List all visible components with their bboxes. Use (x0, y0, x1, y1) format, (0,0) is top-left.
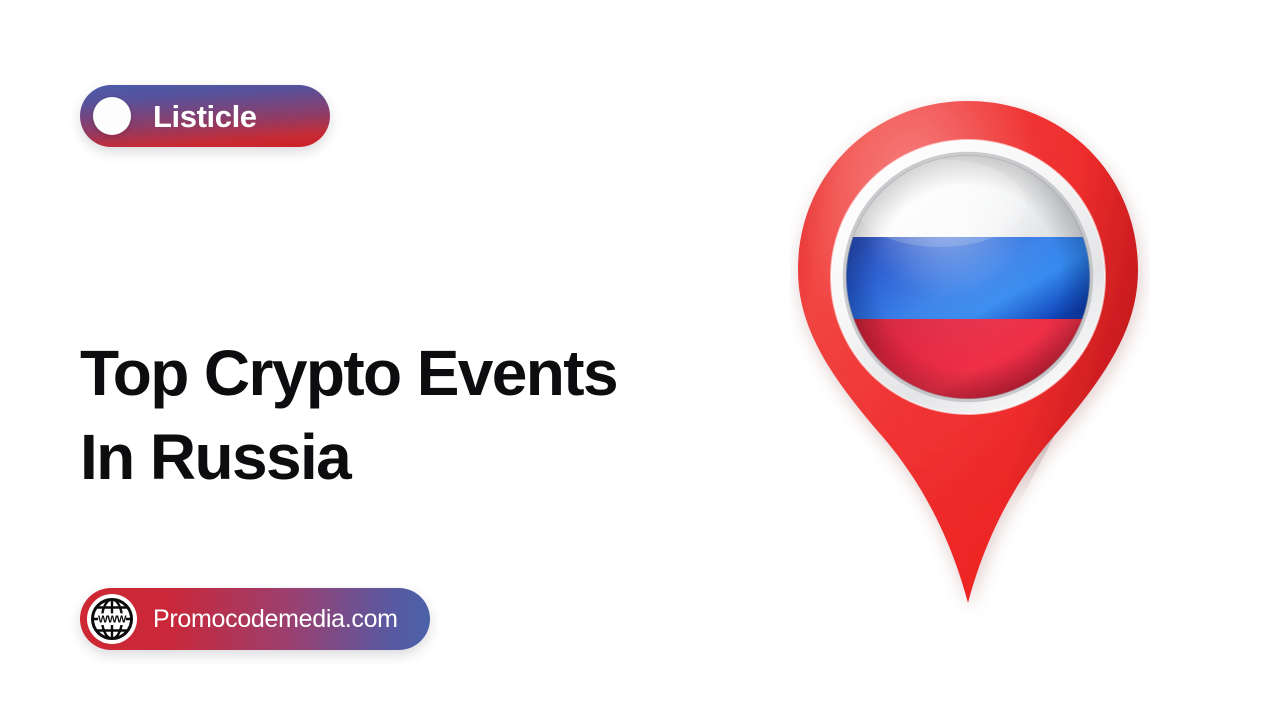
globe-www-icon: WWW (87, 594, 137, 644)
poster-canvas: Listicle Top Crypto Events In Russia WWW… (0, 0, 1280, 720)
page-title-line-1: Top Crypto Events (80, 331, 720, 415)
site-badge[interactable]: WWW Promocodemedia.com (80, 588, 430, 650)
globe-icon-text: WWW (98, 614, 127, 626)
russia-flag-map-pin-illustration (790, 95, 1150, 620)
category-badge-label: Listicle (153, 101, 257, 132)
page-title-line-2: In Russia (80, 415, 720, 499)
site-badge-label: Promocodemedia.com (153, 607, 398, 632)
filled-circle-icon (93, 97, 131, 135)
page-title: Top Crypto Events In Russia (80, 331, 720, 499)
category-badge[interactable]: Listicle (80, 85, 330, 147)
